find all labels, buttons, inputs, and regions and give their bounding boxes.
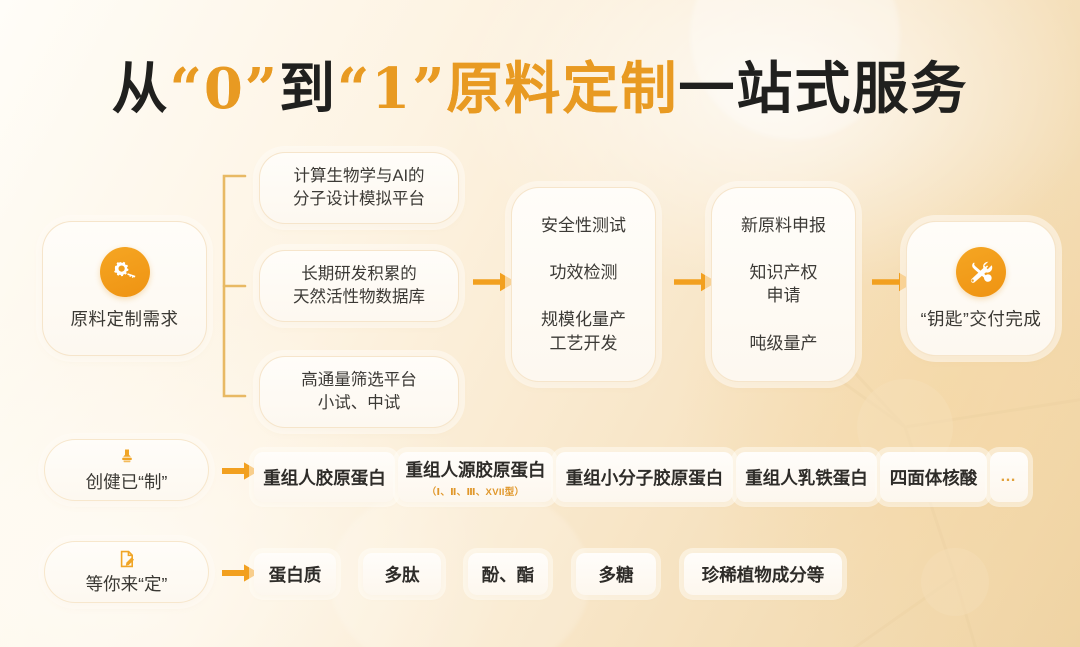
flow-stage1-card-3-line-2: 小试、中试: [318, 392, 401, 415]
row-made-label: 创健已“制”: [86, 469, 168, 494]
title-seg-6: 一站式服务: [678, 56, 968, 122]
flow-stage3-card[interactable]: 新原料申报 知识产权 申请 吨级量产: [711, 187, 856, 382]
row-made-item-2-sub: （Ⅰ、Ⅱ、Ⅲ、XVII型）: [427, 484, 525, 498]
flow-stage1-card-3[interactable]: 高通量筛选平台 小试、中试: [259, 356, 459, 428]
row-custom-item-2[interactable]: 多肽: [363, 553, 441, 595]
row-custom-item-2-label: 多肽: [385, 562, 420, 587]
gear-key-icon: [100, 247, 150, 297]
row-custom-item-4-label: 多糖: [599, 562, 634, 587]
row-made-item-5[interactable]: 四面体核酸: [880, 452, 987, 502]
row-made-item-1-label: 重组人胶原蛋白: [263, 465, 386, 490]
document-pen-icon: [117, 549, 137, 569]
flow-start-card[interactable]: 原料定制需求: [42, 221, 207, 356]
row-made-item-6-label: …: [1000, 468, 1018, 486]
flow-stage2-item-1: 安全性测试: [541, 214, 626, 237]
stamp-icon: [117, 447, 137, 467]
row-custom-item-3[interactable]: 酚、酯: [468, 553, 548, 595]
title-seg-5: 原料定制: [446, 56, 678, 122]
row-made-item-3[interactable]: 重组小分子胶原蛋白: [556, 452, 733, 502]
flow-end-card[interactable]: “钥匙”交付完成: [906, 221, 1056, 356]
row-custom-label-box[interactable]: 等你来“定”: [44, 541, 209, 603]
row-custom-item-3-label: 酚、酯: [482, 562, 535, 587]
row-custom-item-5-label: 珍稀植物成分等: [702, 562, 825, 587]
flow-end-label: “钥匙”交付完成: [921, 306, 1042, 331]
row-made-item-2[interactable]: 重组人源胶原蛋白 （Ⅰ、Ⅱ、Ⅲ、XVII型）: [398, 452, 553, 502]
flow-stage1-card-1[interactable]: 计算生物学与AI的 分子设计模拟平台: [259, 152, 459, 224]
row-made-item-2-label: 重组人源胶原蛋白: [406, 457, 546, 482]
flow-stage3-item-2-line-1: 知识产权: [750, 261, 818, 284]
flow-stage2-card[interactable]: 安全性测试 功效检测 规模化量产 工艺开发: [511, 187, 656, 382]
flow-stage1-card-1-line-2: 分子设计模拟平台: [293, 188, 425, 211]
flow-stage2-item-2: 功效检测: [550, 261, 618, 284]
flow-stage1-card-2[interactable]: 长期研发积累的 天然活性物数据库: [259, 250, 459, 322]
row-custom-item-1-label: 蛋白质: [269, 562, 322, 587]
row-made-label-box[interactable]: 创健已“制”: [44, 439, 209, 501]
row-made-item-6[interactable]: …: [990, 452, 1028, 502]
key-wrench-icon: [956, 247, 1006, 297]
flow-stage2-item-3-line-2: 工艺开发: [541, 332, 626, 355]
row-custom-item-4[interactable]: 多糖: [576, 553, 656, 595]
flow-stage1-card-3-line-1: 高通量筛选平台: [301, 369, 417, 392]
row-made-item-4-label: 重组人乳铁蛋白: [745, 465, 868, 490]
row-custom-item-5[interactable]: 珍稀植物成分等: [684, 553, 842, 595]
flow-stage1-card-2-line-1: 长期研发积累的: [301, 263, 417, 286]
flow-stage3-item-2-line-2: 申请: [750, 284, 818, 307]
row-made-item-1[interactable]: 重组人胶原蛋白: [254, 452, 395, 502]
title-seg-2: “0”: [170, 56, 279, 122]
flow-stage3-item-3: 吨级量产: [750, 332, 818, 355]
flow-stage2-item-3-line-1: 规模化量产: [541, 308, 626, 331]
title-seg-3: 到: [279, 56, 337, 122]
row-made-item-4[interactable]: 重组人乳铁蛋白: [736, 452, 877, 502]
title-seg-4: “1”: [337, 56, 446, 122]
flow-stage1-card-1-line-1: 计算生物学与AI的: [293, 165, 424, 188]
row-made-item-3-label: 重组小分子胶原蛋白: [566, 465, 724, 490]
flow-stage1-card-2-line-2: 天然活性物数据库: [293, 286, 425, 309]
row-made-item-5-label: 四面体核酸: [890, 465, 978, 490]
poster-canvas: 从“0”到“1”原料定制一站式服务 原料定制需求 计算生物学与AI的 分子设计模…: [0, 0, 1080, 647]
flow-start-label: 原料定制需求: [71, 306, 179, 331]
page-title: 从“0”到“1”原料定制一站式服务: [0, 44, 1080, 125]
row-custom-label: 等你来“定”: [86, 571, 168, 596]
flow-stage3-item-1: 新原料申报: [741, 214, 826, 237]
title-seg-1: 从: [112, 56, 170, 122]
row-custom-item-1[interactable]: 蛋白质: [254, 553, 336, 595]
